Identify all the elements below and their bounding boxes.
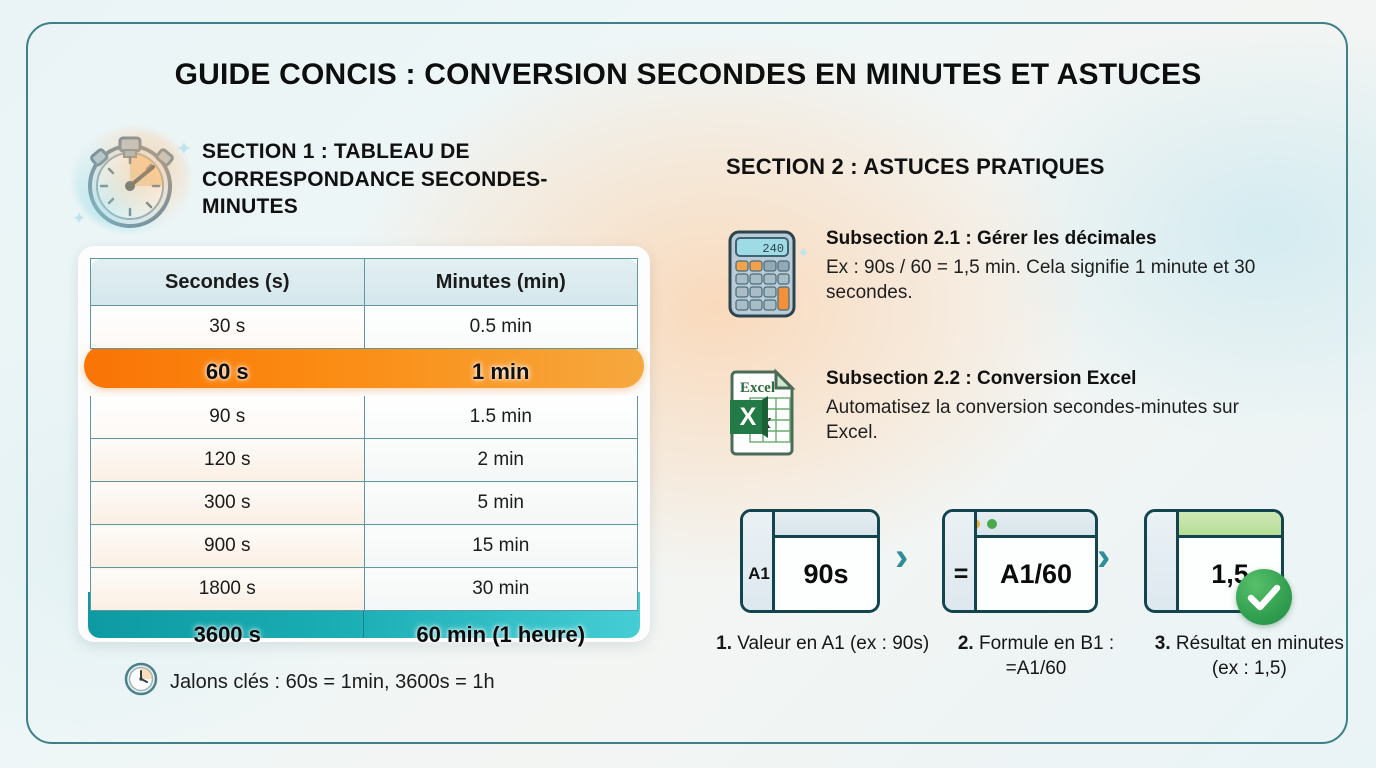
arrow-icon: › — [895, 535, 908, 580]
cell-1-label: A1 — [743, 538, 775, 610]
step-number-2: 2. — [958, 633, 974, 654]
cell-minutes: 0.5 min — [364, 306, 638, 349]
cell-seconds: 1800 s — [91, 568, 365, 611]
cell-minutes: 30 min — [364, 568, 638, 611]
step-caption-1-text: Valeur en A1 (ex : 90s) — [732, 633, 929, 654]
step-caption-1: 1. Valeur en A1 (ex : 90s) — [716, 632, 929, 681]
success-check-icon — [1236, 569, 1292, 625]
cell-minutes: 60 min (1 heure) — [364, 611, 638, 660]
step-captions: 1. Valeur en A1 (ex : 90s) 2. Formule en… — [716, 632, 1356, 681]
cell-2-label: = — [945, 538, 977, 610]
cell-minutes: 1 min — [364, 349, 638, 396]
conversion-table: Secondes (s) Minutes (min) 30 s 0.5 min … — [90, 258, 638, 660]
cell-seconds: 90 s — [91, 396, 365, 439]
step-number-1: 1. — [716, 633, 732, 654]
excel-badge: X — [740, 403, 757, 431]
subsection-2-1: 240 — [722, 228, 1256, 320]
key-milestones-text: Jalons clés : 60s = 1min, 3600s = 1h — [170, 671, 495, 694]
table-row: 300 s 5 min — [91, 482, 638, 525]
cell-seconds: 3600 s — [91, 611, 365, 660]
step-cell-2: = A1/60 — [942, 509, 1098, 613]
step-caption-2: 2. Formule en B1 : =A1/60 — [929, 632, 1142, 681]
excel-file-icon: Excel fx X — [722, 368, 808, 456]
subsection-2-2: Excel fx X Subsection 2.2 : Conversion E… — [722, 368, 1256, 456]
step-caption-3-text: Résultat en minutes (ex : 1,5) — [1171, 633, 1344, 679]
calculator-display: 240 — [762, 242, 784, 256]
stopwatch-icon: ✦ ✦ — [72, 124, 192, 232]
window-dot-green — [987, 519, 997, 529]
table-row: 1800 s 30 min — [91, 568, 638, 611]
cell-seconds: 30 s — [91, 306, 365, 349]
excel-label: Excel — [740, 380, 775, 396]
cell-seconds: 120 s — [91, 439, 365, 482]
cell-minutes: 2 min — [364, 439, 638, 482]
step-caption-3: 3. Résultat en minutes (ex : 1,5) — [1143, 632, 1356, 681]
section-1-heading: SECTION 1 : TABLEAU DE CORRESPONDANCE SE… — [202, 138, 602, 221]
column-header-minutes: Minutes (min) — [364, 259, 638, 306]
clock-icon — [124, 662, 158, 702]
section-2-heading: SECTION 2 : ASTUCES PRATIQUES — [726, 154, 1105, 180]
calculator-icon: 240 — [722, 228, 808, 320]
step-cell-1: A1 90s — [740, 509, 880, 613]
table-row: 900 s 15 min — [91, 525, 638, 568]
cell-1-value: 90s — [775, 538, 877, 610]
column-header-seconds: Secondes (s) — [91, 259, 365, 306]
icon-glow — [74, 128, 190, 232]
cell-seconds: 900 s — [91, 525, 365, 568]
cell-minutes: 1.5 min — [364, 396, 638, 439]
table-row: 120 s 2 min — [91, 439, 638, 482]
subsection-2-1-body: Ex : 90s / 60 = 1,5 min. Cela signifie 1… — [826, 255, 1256, 306]
subsection-2-2-title: Subsection 2.2 : Conversion Excel — [826, 368, 1256, 390]
cell-minutes: 15 min — [364, 525, 638, 568]
subsection-2-1-title: Subsection 2.1 : Gérer les décimales — [826, 228, 1256, 250]
excel-steps-diagram: A1 90s › = A1/60 › 1,5 — [730, 503, 1350, 618]
cell-seconds: 300 s — [91, 482, 365, 525]
cell-minutes: 5 min — [364, 482, 638, 525]
key-milestones-note: Jalons clés : 60s = 1min, 3600s = 1h — [124, 662, 495, 702]
sparkle-icon: ✦ — [72, 210, 86, 227]
sparkle-icon: ✦ — [176, 140, 192, 159]
cell-row-gutter — [1147, 512, 1179, 610]
subsection-2-2-body: Automatisez la conversion secondes-minut… — [826, 395, 1256, 446]
page-title: GUIDE CONCIS : CONVERSION SECONDES EN MI… — [0, 58, 1376, 92]
table-row-highlighted-orange: 60 s 1 min — [91, 349, 638, 396]
infographic-canvas: GUIDE CONCIS : CONVERSION SECONDES EN MI… — [0, 0, 1376, 768]
cell-2-value: A1/60 — [977, 538, 1095, 610]
sparkle-icon: ✦ — [797, 246, 810, 261]
table-row: 90 s 1.5 min — [91, 396, 638, 439]
table-row-highlighted-teal: 3600 s 60 min (1 heure) — [91, 611, 638, 660]
arrow-icon: › — [1097, 535, 1110, 580]
table-header-row: Secondes (s) Minutes (min) — [91, 259, 638, 306]
step-number-3: 3. — [1155, 633, 1171, 654]
cell-seconds: 60 s — [91, 349, 365, 396]
step-caption-2-text: Formule en B1 : =A1/60 — [974, 633, 1114, 679]
table-row: 30 s 0.5 min — [91, 306, 638, 349]
